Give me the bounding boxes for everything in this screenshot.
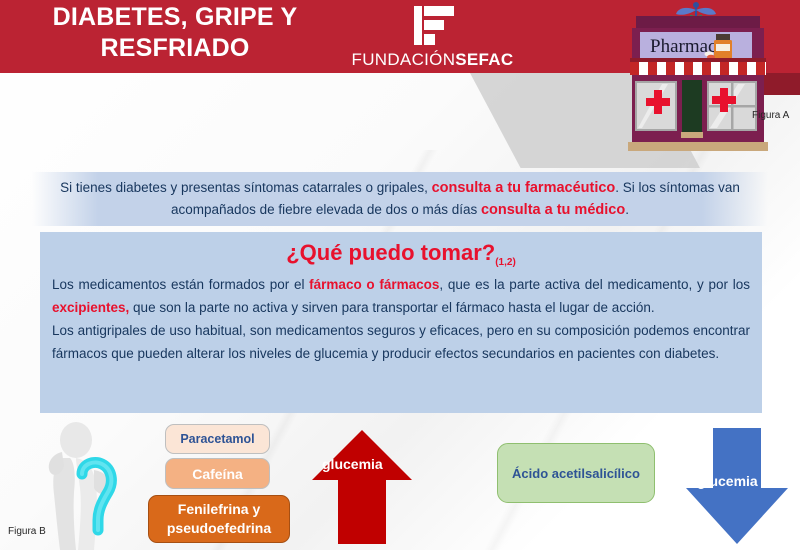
drug-box-fenilefrina-pseudoefedrina: Fenilefrina y pseudoefedrina [148, 495, 290, 543]
page-title: DIABETES, GRIPE Y RESFRIADO [0, 2, 350, 64]
drug-box-cafeina: Cafeína [165, 458, 270, 489]
paragraph1-part-a: Los medicamentos están formados por el [52, 277, 309, 292]
logo-word-sefac: SEFAC [455, 50, 513, 69]
pharmacy-storefront-illustration: Pharmacy [628, 2, 768, 162]
drug-box-acido-acetilsalicilico: Ácido acetilsalicílico [497, 443, 655, 503]
paragraph1-part-c: que son la parte no activa y sirven para… [129, 300, 654, 315]
drug-box-paracetamol: Paracetamol [165, 424, 270, 454]
main-content-panel: ¿Qué puedo tomar?(1,2) Los medicamentos … [40, 232, 762, 413]
main-panel-heading-text: ¿Qué puedo tomar? [286, 240, 495, 265]
logo-word-fundacion: FUNDACIÓN [352, 50, 456, 69]
paragraph1-part-b: , que es la parte activa del medicamento… [439, 277, 750, 292]
advice-part-3: . [625, 202, 629, 217]
arrow-down-label: glucemia [697, 473, 758, 489]
main-panel-heading-references: (1,2) [495, 257, 516, 268]
paragraph1-highlight-farmaco: fármaco o fármacos [309, 277, 439, 292]
storefront-window-right [708, 82, 756, 130]
logo-wordmark: FUNDACIÓNSEFAC [340, 50, 525, 70]
main-panel-paragraph-2: Los antigripales de uso habitual, son me… [52, 319, 750, 365]
figure-a-caption: Figura A [752, 110, 789, 121]
advice-part-1: Si tienes diabetes y presentas síntomas … [60, 180, 431, 195]
storefront-window-left [636, 82, 676, 130]
arrow-up-label: glucemia [322, 456, 383, 472]
main-panel-paragraph-1: Los medicamentos están formados por el f… [52, 273, 750, 319]
main-panel-heading: ¿Qué puedo tomar?(1,2) [52, 238, 750, 273]
advice-highlight-pharmacist: consulta a tu farmacéutico [432, 180, 616, 196]
advice-highlight-doctor: consulta a tu médico [481, 202, 625, 218]
arrow-up-increase-glucemia-icon [310, 428, 414, 546]
advice-banner: Si tienes diabetes y presentas síntomas … [32, 172, 768, 226]
advice-banner-text: Si tienes diabetes y presentas síntomas … [42, 177, 758, 221]
awning [630, 58, 766, 75]
figure-b-caption: Figura B [8, 526, 46, 537]
paragraph1-highlight-excipientes: excipientes, [52, 300, 129, 315]
fundacion-sefac-logo: FUNDACIÓNSEFAC [340, 4, 525, 70]
f-logo-icon [410, 4, 456, 48]
infographic-page: DIABETES, GRIPE Y RESFRIADO FUNDACIÓNSEF… [0, 0, 800, 550]
